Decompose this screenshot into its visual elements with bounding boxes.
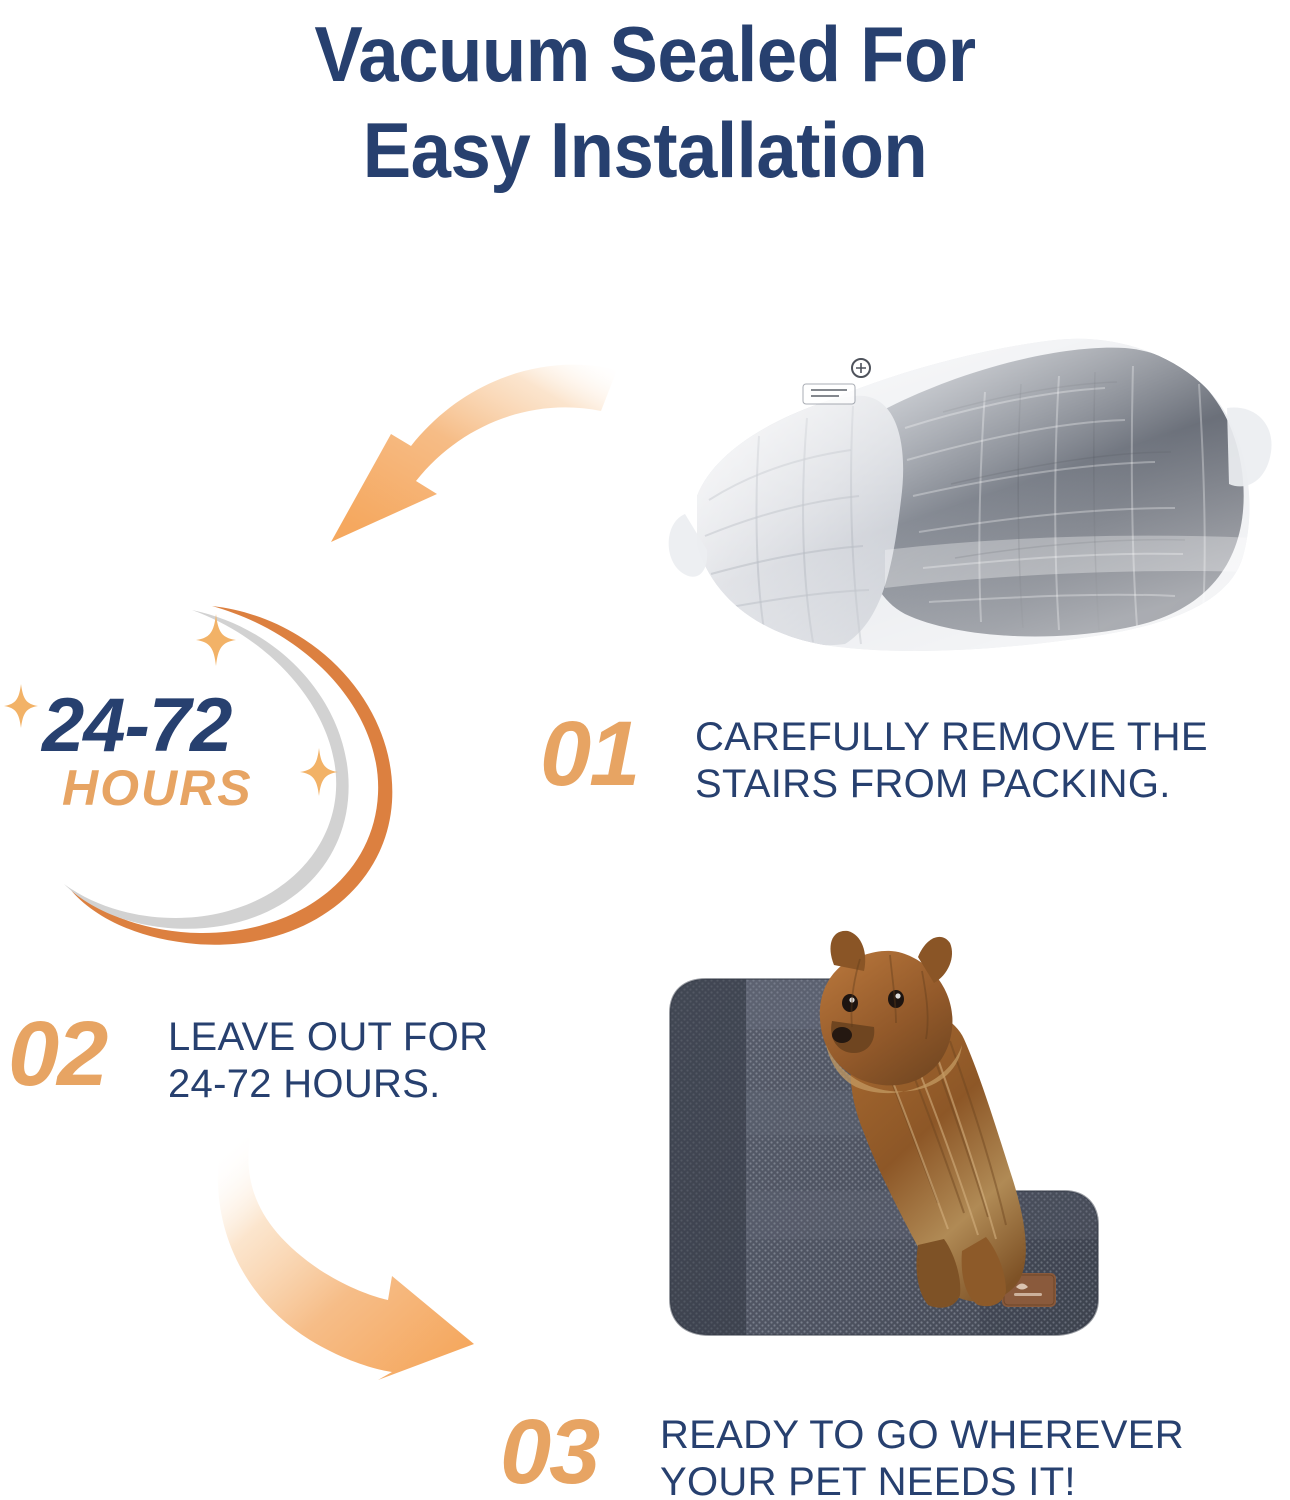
badge-duration-value: 24-72 bbox=[42, 682, 231, 769]
step-01-line-2: STAIRS FROM PACKING. bbox=[695, 761, 1208, 808]
step-02-number: 02 bbox=[8, 1008, 106, 1100]
step-02-text: LEAVE OUT FOR 24-72 HOURS. bbox=[168, 1014, 488, 1108]
badge-duration-unit: HOURS bbox=[62, 759, 253, 817]
page-title-line-1: Vacuum Sealed For bbox=[45, 0, 1245, 102]
infographic-page: Vacuum Sealed For Easy Installation bbox=[0, 0, 1290, 1500]
vacuum-sealed-package-photo bbox=[655, 300, 1285, 700]
step-03-text: READY TO GO WHEREVER YOUR PET NEEDS IT! bbox=[660, 1412, 1184, 1500]
curved-arrow-down-left-icon bbox=[295, 318, 625, 583]
duration-badge: 24-72 HOURS bbox=[0, 596, 440, 966]
step-02-line-2: 24-72 HOURS. bbox=[168, 1061, 488, 1108]
pet-stairs-with-dog-photo bbox=[650, 895, 1290, 1375]
page-title: Vacuum Sealed For Easy Installation bbox=[45, 0, 1245, 198]
step-01-line-1: CAREFULLY REMOVE THE bbox=[695, 714, 1208, 761]
four-point-star-sparkle-icon-right bbox=[300, 748, 338, 801]
step-03-number: 03 bbox=[500, 1406, 598, 1498]
curved-arrow-down-right-icon bbox=[178, 1128, 528, 1388]
step-01-number: 01 bbox=[540, 708, 638, 800]
four-point-star-sparkle-icon-top bbox=[196, 614, 236, 671]
page-title-line-2: Easy Installation bbox=[45, 102, 1245, 198]
four-point-star-sparkle-icon-left bbox=[4, 684, 38, 733]
step-03-line-2: YOUR PET NEEDS IT! bbox=[660, 1459, 1184, 1500]
step-03-line-1: READY TO GO WHEREVER bbox=[660, 1412, 1184, 1459]
step-01-text: CAREFULLY REMOVE THE STAIRS FROM PACKING… bbox=[695, 714, 1208, 808]
step-02-line-1: LEAVE OUT FOR bbox=[168, 1014, 488, 1061]
